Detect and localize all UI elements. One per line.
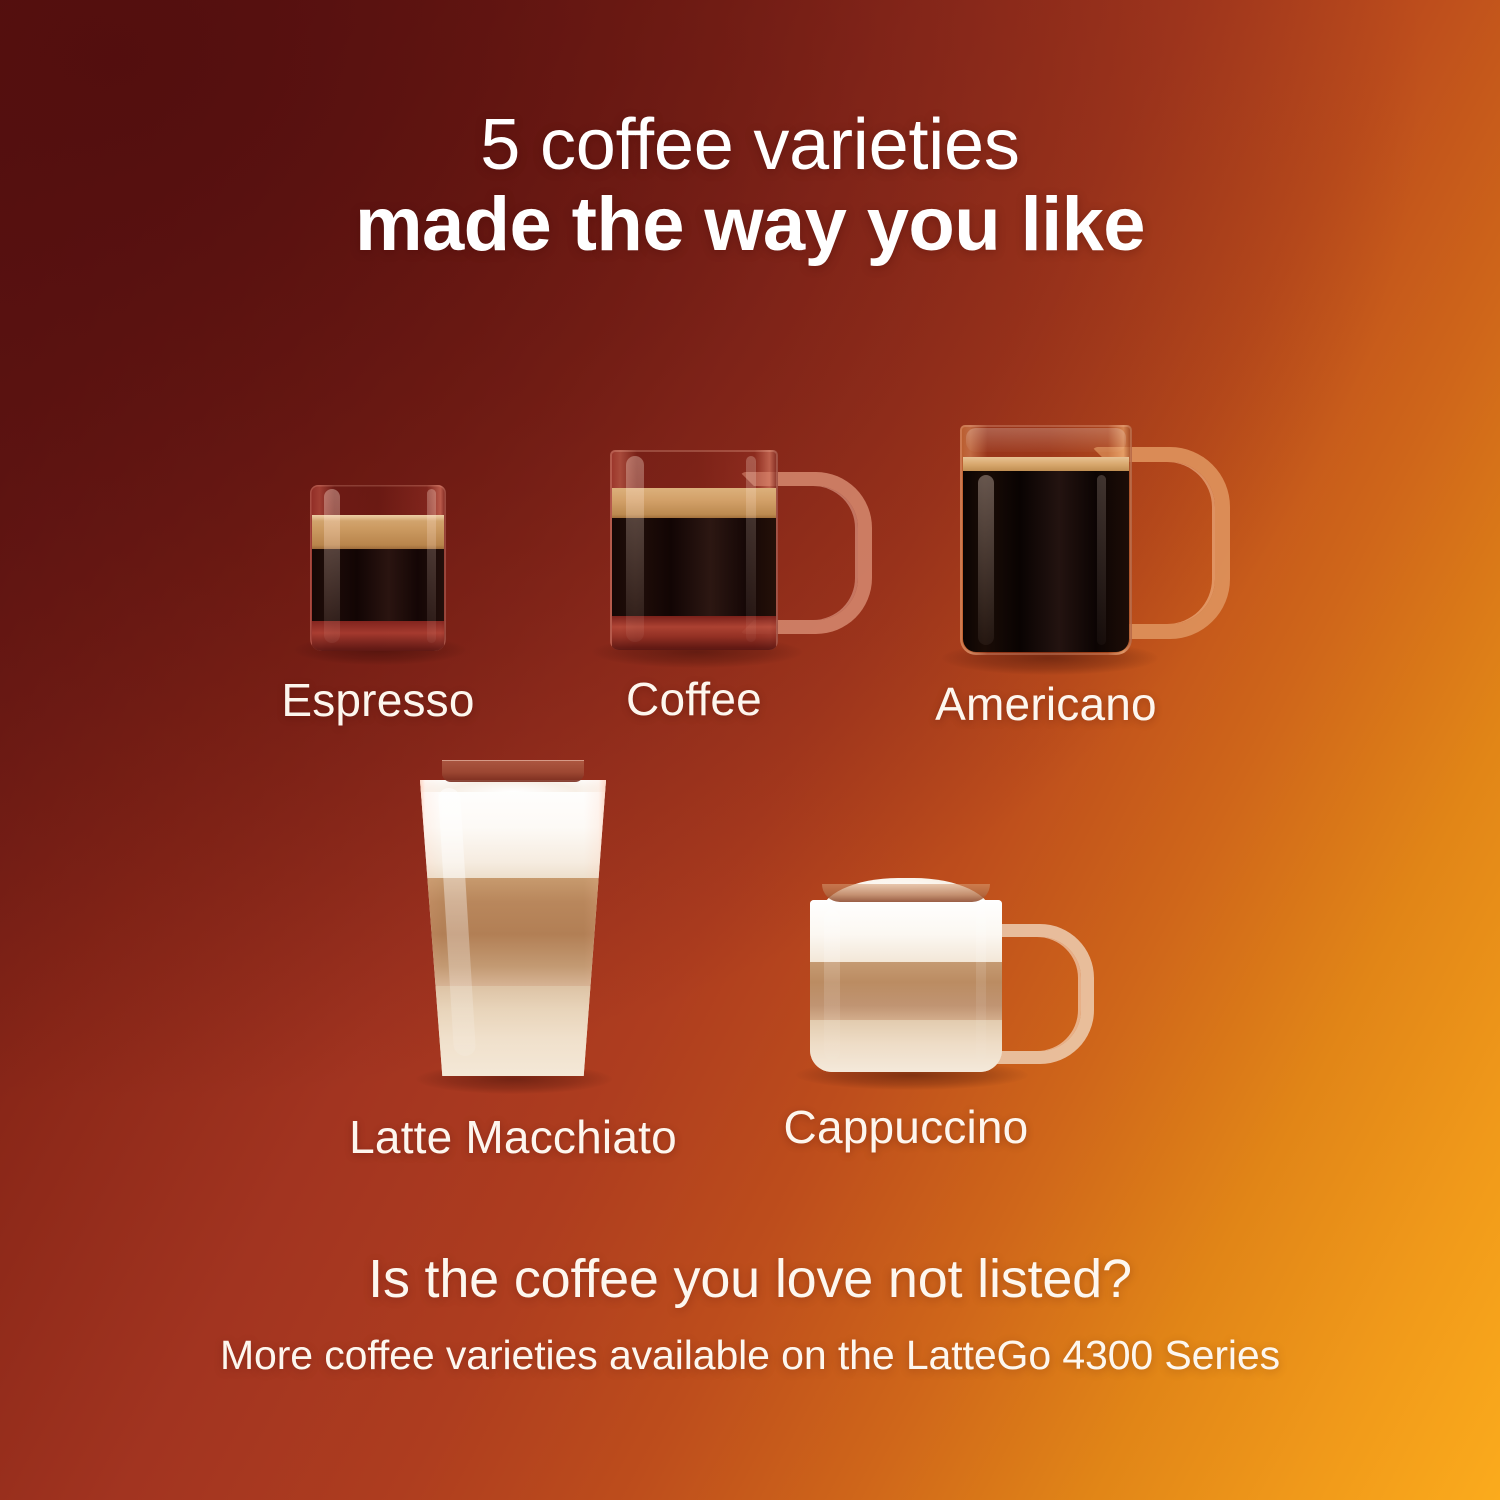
cappuccino-cup-icon (810, 900, 1002, 1072)
cappuccino-cup-base (822, 884, 990, 902)
latte-macchiato-milk-layer (420, 986, 606, 1076)
cappuccino-coffee-layer (810, 962, 1002, 1020)
promo-banner: 5 coffee varieties made the way you like… (0, 0, 1500, 1500)
cappuccino-milk-layer (810, 1020, 1002, 1072)
cappuccino-foam-layer (810, 900, 1002, 962)
latte-macchiato-foam-layer (420, 780, 606, 878)
footer-block: Is the coffee you love not listed? More … (0, 1248, 1500, 1379)
cappuccino-label: Cappuccino (696, 1100, 1116, 1154)
latte-macchiato-coffee-layer (420, 878, 606, 986)
latte-macchiato-glass-base (442, 760, 584, 782)
latte-macchiato-glass-icon (420, 780, 606, 1076)
footer-note: More coffee varieties available on the L… (0, 1332, 1500, 1379)
latte-macchiato-label: Latte Macchiato (303, 1110, 723, 1164)
footer-question: Is the coffee you love not listed? (0, 1248, 1500, 1310)
variety-row-bottom: Latte Macchiato Cappuccino (0, 0, 1500, 740)
